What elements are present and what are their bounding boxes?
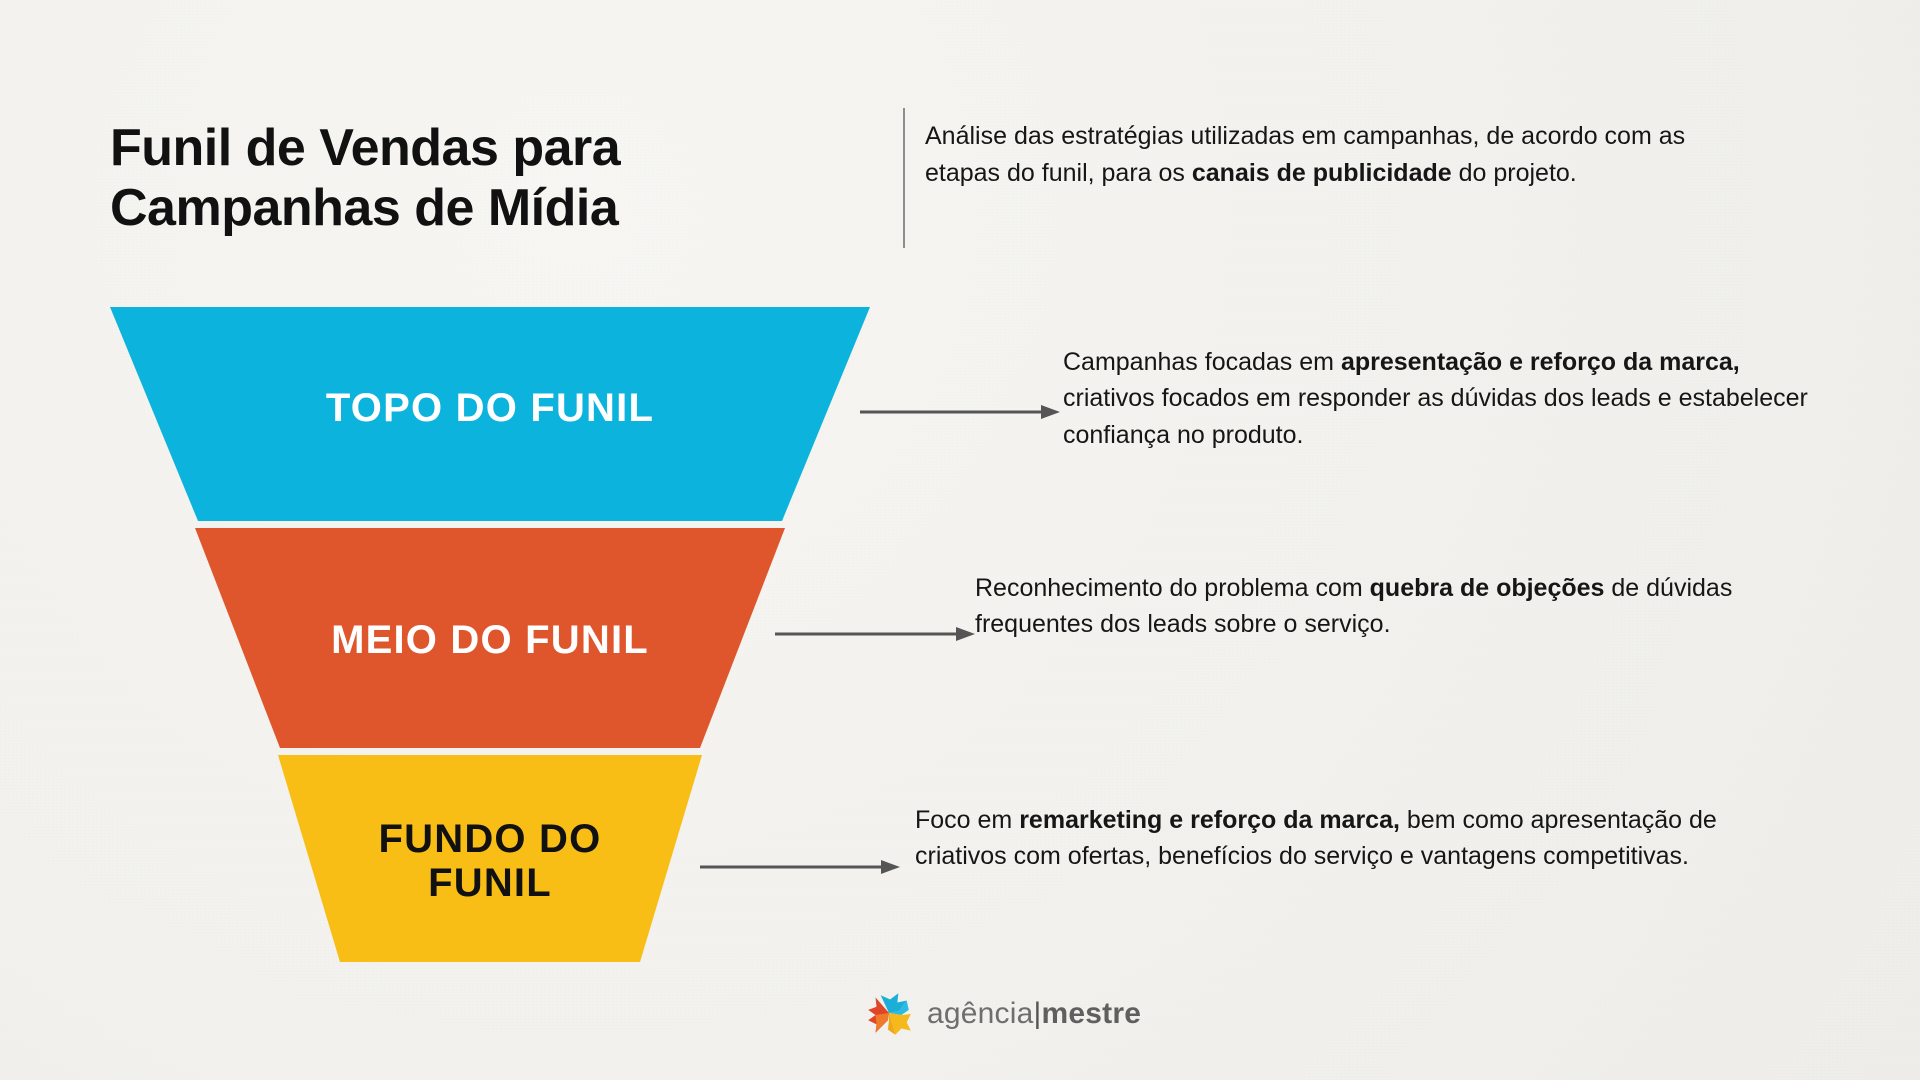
infographic-canvas: Funil de Vendas para Campanhas de Mídia … — [0, 0, 1920, 1080]
brand-separator: | — [1034, 997, 1042, 1030]
brand-name-bold: mestre — [1042, 997, 1142, 1030]
intro-divider — [903, 108, 905, 248]
intro-paragraph: Análise das estratégias utilizadas em ca… — [925, 118, 1725, 191]
funnel-stage-topo-description: Campanhas focadas em apresentação e refo… — [1063, 344, 1823, 453]
funnel-stage-topo[interactable]: TOPO DO FUNIL — [110, 307, 870, 521]
brand-logo[interactable]: agência|mestre — [863, 988, 1141, 1040]
brand-logo-text: agência|mestre — [927, 997, 1141, 1031]
funnel-stage-meio-label: MEIO DO FUNIL — [331, 618, 649, 662]
arrow-fundo-icon — [700, 855, 900, 879]
pinwheel-logo-icon — [863, 988, 915, 1040]
arrow-meio-icon — [775, 622, 975, 646]
funnel-stage-fundo-label: FUNDO DO FUNIL — [379, 817, 602, 905]
funnel-stage-fundo-description: Foco em remarketing e reforço da marca, … — [915, 802, 1795, 875]
page-title: Funil de Vendas para Campanhas de Mídia — [110, 118, 710, 239]
arrow-topo-icon — [860, 400, 1060, 424]
funnel-stage-meio[interactable]: MEIO DO FUNIL — [110, 528, 870, 748]
funnel-stage-topo-label: TOPO DO FUNIL — [326, 386, 654, 430]
funnel-stage-meio-description: Reconhecimento do problema com quebra de… — [975, 570, 1765, 643]
brand-name-light: agência — [927, 997, 1034, 1030]
